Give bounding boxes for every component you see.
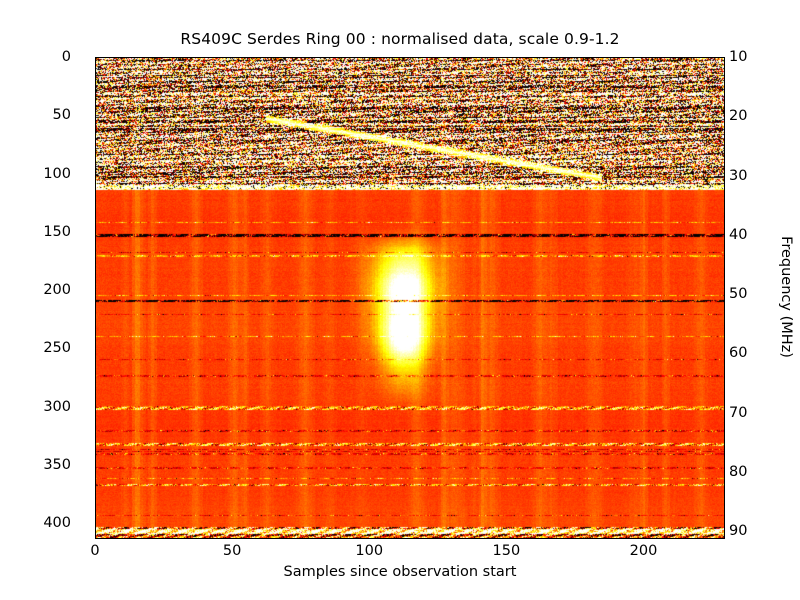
- y-tick-label-left: 150: [43, 224, 71, 240]
- x-axis-label: Samples since observation start: [0, 564, 800, 580]
- y-tick-right: [724, 532, 725, 533]
- y-tick-label-right: 10: [729, 49, 747, 65]
- y-tick-left: [95, 524, 96, 525]
- x-tick: [96, 538, 97, 539]
- y-tick-right: [724, 414, 725, 415]
- y-tick-label-left: 200: [43, 282, 71, 298]
- heatmap-axes: [95, 57, 725, 539]
- y-tick-right: [724, 354, 725, 355]
- y-tick-label-left: 400: [43, 515, 71, 531]
- y-tick-left: [95, 58, 96, 59]
- y-tick-left: [95, 466, 96, 467]
- y-tick-left: [95, 175, 96, 176]
- x-tick: [644, 538, 645, 539]
- y-tick-left: [95, 291, 96, 292]
- y-tick-left: [95, 233, 96, 234]
- y-tick-label-left: 250: [43, 340, 71, 356]
- x-tick: [233, 538, 234, 539]
- y-tick-left: [95, 349, 96, 350]
- x-tick-label: 50: [223, 543, 241, 559]
- y-tick-right: [724, 295, 725, 296]
- x-tick-label: 100: [355, 543, 383, 559]
- y-tick-label-right: 70: [729, 405, 747, 421]
- y-axis-label-right: Frequency (MHz): [778, 147, 794, 447]
- y-tick-right: [724, 117, 725, 118]
- y-tick-right: [724, 473, 725, 474]
- y-tick-label-right: 20: [729, 108, 747, 124]
- y-tick-label-left: 100: [43, 166, 71, 182]
- x-tick-label: 150: [493, 543, 521, 559]
- x-tick: [507, 538, 508, 539]
- y-tick-label-left: 50: [53, 107, 71, 123]
- y-tick-right: [724, 236, 725, 237]
- y-tick-right: [724, 177, 725, 178]
- chart-title: RS409C Serdes Ring 00 : normalised data,…: [0, 30, 800, 48]
- y-tick-label-left: 350: [43, 457, 71, 473]
- y-tick-label-right: 30: [729, 168, 747, 184]
- y-tick-label-right: 50: [729, 286, 747, 302]
- y-tick-label-right: 80: [729, 464, 747, 480]
- x-tick: [370, 538, 371, 539]
- y-tick-left: [95, 116, 96, 117]
- y-tick-label-right: 60: [729, 345, 747, 361]
- y-tick-left: [95, 408, 96, 409]
- waterfall-heatmap-image: [96, 58, 724, 538]
- y-tick-label-left: 300: [43, 399, 71, 415]
- y-tick-label-right: 40: [729, 227, 747, 243]
- figure-canvas: RS409C Serdes Ring 00 : normalised data,…: [0, 0, 800, 600]
- x-tick-label: 200: [630, 543, 658, 559]
- x-tick-label: 0: [90, 543, 99, 559]
- y-tick-right: [724, 58, 725, 59]
- y-tick-label-left: 0: [62, 49, 71, 65]
- y-tick-label-right: 90: [729, 523, 747, 539]
